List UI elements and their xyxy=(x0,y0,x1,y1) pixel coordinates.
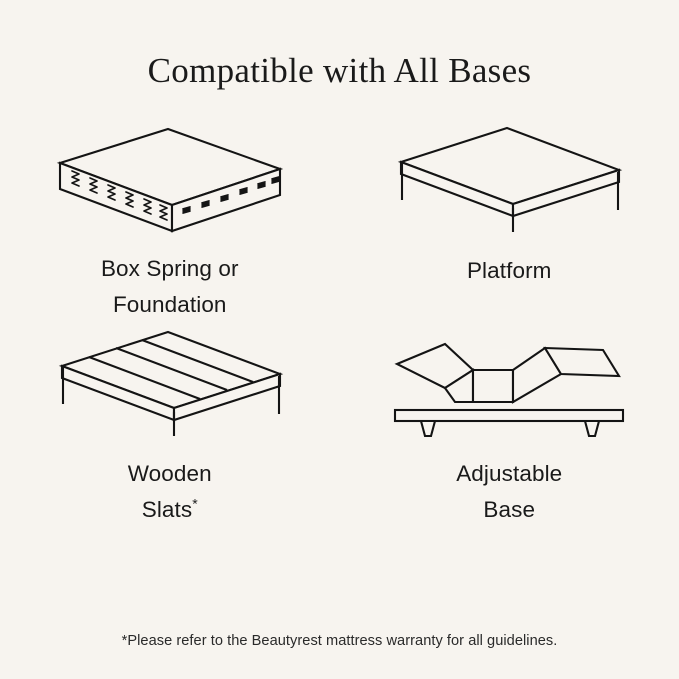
compatible-bases-infographic: Compatible with All Bases xyxy=(0,0,679,679)
platform-icon xyxy=(389,122,629,234)
base-card-wooden-slats: Wooden Slats* xyxy=(0,324,340,529)
bases-grid: Box Spring or Foundation xyxy=(0,119,679,529)
base-label-line2: Base xyxy=(456,492,562,528)
base-card-platform: Platform xyxy=(340,119,679,324)
wooden-slats-icon xyxy=(50,326,290,438)
base-label-line1: Platform xyxy=(467,253,552,289)
page-title: Compatible with All Bases xyxy=(148,52,532,91)
wooden-slats-illustration xyxy=(30,324,310,440)
base-label-line2-wrap: Slats* xyxy=(128,492,212,528)
base-label-box-spring: Box Spring or Foundation xyxy=(101,251,239,324)
base-label-wooden-slats: Wooden Slats* xyxy=(128,456,212,529)
warranty-footnote: *Please refer to the Beautyrest mattress… xyxy=(0,633,679,649)
adjustable-base-legs xyxy=(421,421,599,436)
base-label-line1: Wooden xyxy=(128,456,212,492)
base-card-adjustable-base: Adjustable Base xyxy=(340,324,679,529)
footnote-marker: * xyxy=(192,496,198,512)
articulated-mattress xyxy=(397,344,619,402)
box-spring-icon xyxy=(50,121,290,233)
base-label-line2: Slats xyxy=(142,497,193,522)
adjustable-base-illustration xyxy=(369,324,649,440)
platform-bed-illustration xyxy=(369,119,649,237)
box-spring-illustration xyxy=(30,119,310,235)
base-label-adjustable-base: Adjustable Base xyxy=(456,456,562,529)
base-label-line2: Foundation xyxy=(101,287,239,323)
base-platform-bar xyxy=(395,410,623,421)
adjustable-base-icon xyxy=(389,326,629,438)
base-label-line1: Box Spring or xyxy=(101,251,239,287)
base-card-box-spring: Box Spring or Foundation xyxy=(0,119,340,324)
base-label-line1: Adjustable xyxy=(456,456,562,492)
base-label-platform: Platform xyxy=(467,253,552,289)
